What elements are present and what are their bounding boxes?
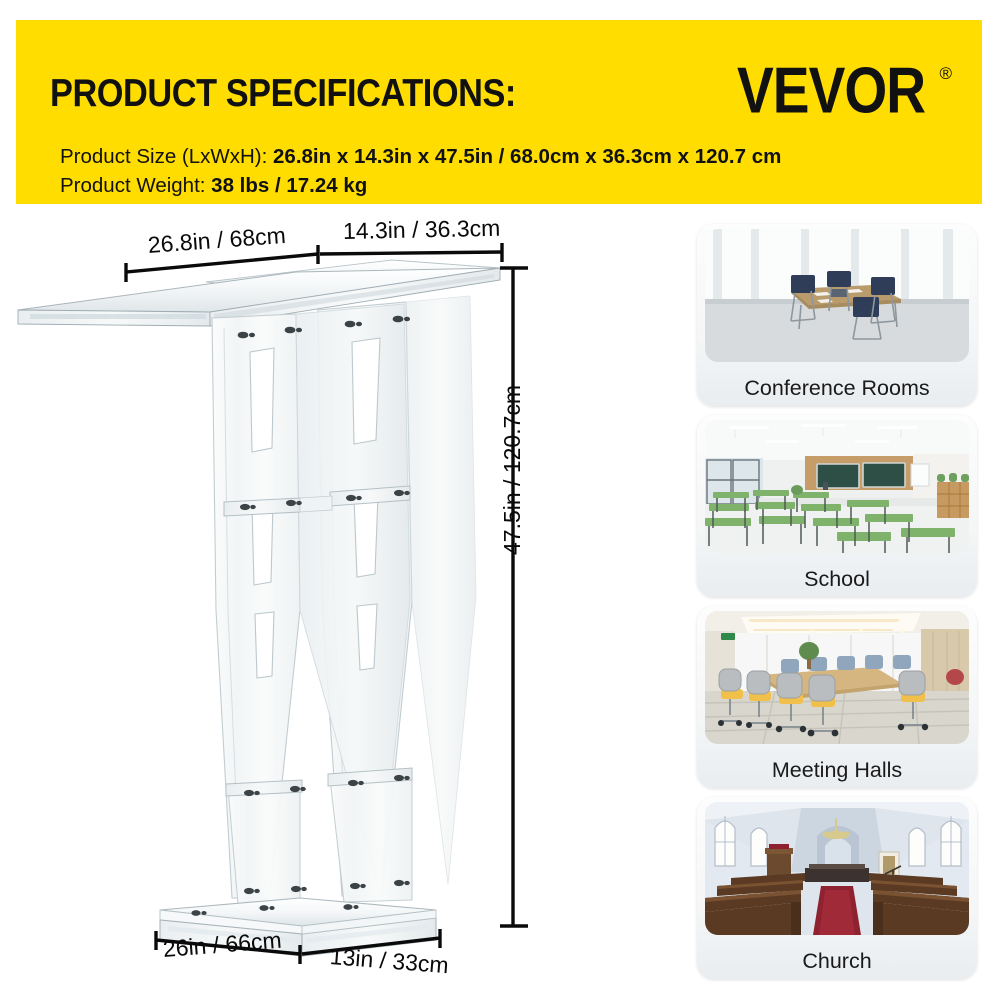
spec-row-weight: Product Weight: 38 lbs / 17.24 kg — [60, 171, 781, 200]
use-case-card-meeting-halls[interactable]: Meeting Halls — [697, 606, 977, 788]
use-case-card-church[interactable]: Church — [697, 797, 977, 979]
use-case-card-school[interactable]: School — [697, 415, 977, 597]
spec-banner: PRODUCT SPECIFICATIONS: VEVOR ® Product … — [16, 20, 982, 204]
dimension-label-top-right: 14.3in / 36.3cm — [343, 215, 501, 245]
use-case-label: Church — [697, 949, 977, 974]
classroom-photo — [705, 420, 969, 553]
spec-list: Product Size (LxWxH): 26.8in x 14.3in x … — [60, 142, 781, 200]
spec-value-weight: 38 lbs / 17.24 kg — [211, 174, 367, 197]
spec-row-size: Product Size (LxWxH): 26.8in x 14.3in x … — [60, 142, 781, 171]
meeting-hall-photo — [705, 611, 969, 744]
conference-room-photo — [705, 229, 969, 362]
use-case-card-list: Conference Rooms — [697, 224, 980, 994]
spec-label-weight: Product Weight: — [60, 174, 211, 197]
registered-trademark-icon: ® — [939, 64, 952, 84]
use-case-label: School — [697, 567, 977, 592]
brand-wordmark: VEVOR — [737, 60, 925, 122]
use-case-label: Conference Rooms — [697, 376, 977, 401]
spec-label-size: Product Size (LxWxH): — [60, 145, 273, 168]
spec-value-size: 26.8in x 14.3in x 47.5in / 68.0cm x 36.3… — [273, 145, 781, 168]
dimension-label-height: 47.5in / 120.7cm — [499, 385, 526, 555]
church-interior-photo — [705, 802, 969, 935]
vevor-logo: VEVOR ® — [737, 60, 952, 115]
product-diagram: 26.8in / 68cm 14.3in / 36.3cm 47.5in / 1… — [0, 210, 680, 1000]
use-case-card-conference-rooms[interactable]: Conference Rooms — [697, 224, 977, 406]
podium-illustration — [0, 210, 680, 1000]
page-title: PRODUCT SPECIFICATIONS: — [50, 72, 516, 116]
product-spec-page: PRODUCT SPECIFICATIONS: VEVOR ® Product … — [0, 0, 1000, 1000]
use-case-label: Meeting Halls — [697, 758, 977, 783]
